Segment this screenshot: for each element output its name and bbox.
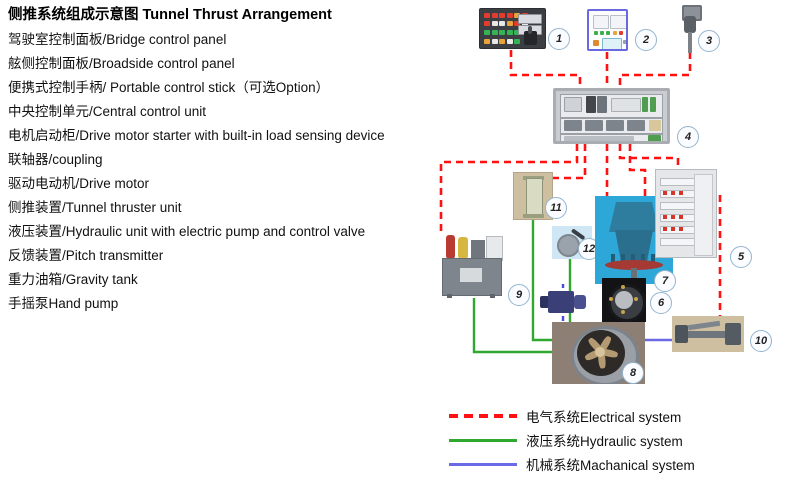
legend-label-electrical: 电气系统Electrical system [526, 406, 681, 426]
pitch-transmitter[interactable] [672, 316, 744, 352]
caption-item-4: 中央控制单元/Central control unit [8, 100, 458, 124]
badge-2: 2 [635, 29, 657, 51]
legend-row-hydraulic: 液压系统Hydraulic system [449, 428, 779, 452]
bridge-control-panel[interactable] [479, 8, 546, 49]
caption-item-10: 反馈装置/Pitch transmitter [8, 244, 458, 268]
page-title: 侧推系统组成示意图 Tunnel Thrust Arrangement [8, 4, 458, 26]
broadside-control-panel[interactable] [587, 9, 628, 51]
name-plate [460, 268, 482, 282]
thruster-hood [609, 202, 659, 232]
stick-grip [684, 16, 696, 33]
legend-label-mechanical: 机械系统Machanical system [526, 454, 695, 474]
hydraulic-unit[interactable] [438, 232, 504, 298]
stick-cable [688, 32, 692, 53]
badge-10: 10 [750, 330, 772, 352]
panel-joystick[interactable] [524, 31, 537, 45]
legend-label-hydraulic: 液压系统Hydraulic system [526, 430, 683, 450]
badge-7: 7 [654, 270, 676, 292]
motor-end-right [574, 295, 586, 309]
caption-item-6: 联轴器/coupling [8, 148, 458, 172]
badge-5: 5 [730, 246, 752, 268]
badge-4: 4 [677, 126, 699, 148]
caption-list: 侧推系统组成示意图 Tunnel Thrust Arrangement 驾驶室控… [8, 4, 458, 316]
sight-glass [526, 178, 543, 218]
legend: 电气系统Electrical system 液压系统Hydraulic syst… [449, 404, 779, 476]
caption-item-5: 电机启动柜/Drive motor starter with built-in … [8, 124, 458, 148]
badge-6: 6 [650, 292, 672, 314]
badge-11: 11 [545, 197, 567, 219]
panel-display-upper [518, 14, 542, 24]
motor-core [548, 291, 574, 313]
caption-item-12: 手摇泵Hand pump [8, 292, 458, 316]
central-control-unit[interactable] [553, 88, 670, 144]
diagram-page: 侧推系统组成示意图 Tunnel Thrust Arrangement 驾驶室控… [0, 0, 788, 490]
caption-item-8: 侧推装置/Tunnel thruster unit [8, 196, 458, 220]
accumulator-red [446, 235, 455, 259]
drive-motor[interactable] [540, 288, 586, 316]
electrical-line-swatch-icon [449, 414, 517, 418]
badge-8: 8 [622, 362, 644, 384]
caption-item-2: 舷侧控制面板/Broadside control panel [8, 52, 458, 76]
transmitter-end-left [675, 325, 688, 343]
accumulator-yellow [458, 237, 468, 259]
caption-item-1: 驾驶室控制面板/Bridge control panel [8, 28, 458, 52]
caption-item-11: 重力油箱/Gravity tank [8, 268, 458, 292]
hydraulic-line-swatch-icon [449, 439, 517, 442]
coupling-hub [615, 291, 633, 309]
badge-3: 3 [698, 30, 720, 52]
caption-item-9: 液压装置/Hydraulic unit with electric pump a… [8, 220, 458, 244]
system-diagram: 1 2 3 [430, 0, 788, 400]
drive-motor-starter-cabinet[interactable] [655, 169, 717, 258]
cabinet-door[interactable] [694, 174, 713, 256]
transmitter-arm [688, 321, 720, 330]
valve-block [471, 240, 485, 259]
badge-1: 1 [548, 28, 570, 50]
caption-item-3: 便携式控制手柄/ Portable control stick（可选Option… [8, 76, 458, 100]
legend-row-mechanical: 机械系统Machanical system [449, 452, 779, 476]
coupling[interactable] [602, 278, 646, 322]
propeller-hub [595, 347, 605, 357]
transmitter-end-right [725, 323, 741, 345]
badge-9: 9 [508, 284, 530, 306]
legend-row-electrical: 电气系统Electrical system [449, 404, 779, 428]
caption-item-7: 驱动电动机/Drive motor [8, 172, 458, 196]
pump-body [557, 234, 580, 257]
mechanical-line-swatch-icon [449, 463, 517, 466]
